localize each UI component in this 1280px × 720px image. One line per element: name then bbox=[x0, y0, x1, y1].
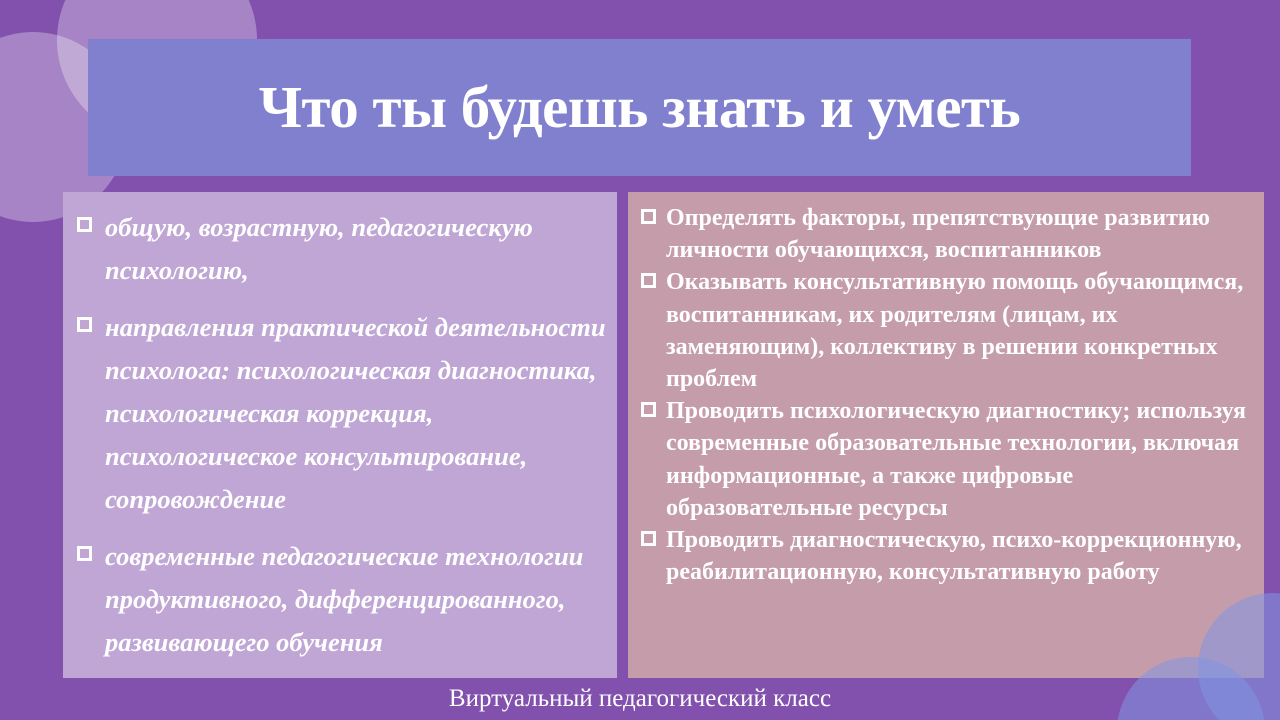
list-item-text: Определять факторы, препятствующие разви… bbox=[666, 205, 1210, 263]
slide-footer: Виртуальный педагогический класс bbox=[0, 678, 1280, 720]
checkbox-bullet-icon bbox=[77, 546, 92, 561]
left-content-panel: общую, возрастную, педагогическую психол… bbox=[63, 192, 617, 678]
slide-canvas: Что ты будешь знать и уметь общую, возра… bbox=[0, 0, 1280, 720]
right-content-panel: Определять факторы, препятствующие разви… bbox=[628, 192, 1264, 678]
list-item-text: общую, возрастную, педагогическую психол… bbox=[105, 212, 533, 285]
left-bullet-list: общую, возрастную, педагогическую психол… bbox=[77, 206, 607, 664]
list-item: направления практической деятельности пс… bbox=[77, 306, 607, 521]
list-item-text: Проводить диагностическую, психо-коррекц… bbox=[666, 527, 1242, 585]
list-item: общую, возрастную, педагогическую психол… bbox=[77, 206, 607, 292]
list-item-text: современные педагогические технологии пр… bbox=[105, 541, 583, 657]
checkbox-bullet-icon bbox=[641, 209, 656, 224]
right-bullet-list: Определять факторы, препятствующие разви… bbox=[638, 202, 1258, 588]
list-item: Проводить диагностическую, психо-коррекц… bbox=[638, 524, 1258, 588]
list-item-text: Проводить психологическую диагностику; и… bbox=[666, 398, 1246, 521]
list-item: Оказывать консультативную помощь обучающ… bbox=[638, 266, 1258, 395]
list-item-text: направления практической деятельности пс… bbox=[105, 312, 606, 514]
page-title: Что ты будешь знать и уметь bbox=[88, 39, 1191, 176]
checkbox-bullet-icon bbox=[77, 317, 92, 332]
list-item: современные педагогические технологии пр… bbox=[77, 535, 607, 664]
list-item-text: Оказывать консультативную помощь обучающ… bbox=[666, 269, 1243, 392]
checkbox-bullet-icon bbox=[641, 402, 656, 417]
list-item: Определять факторы, препятствующие разви… bbox=[638, 202, 1258, 266]
checkbox-bullet-icon bbox=[641, 531, 656, 546]
checkbox-bullet-icon bbox=[77, 217, 92, 232]
list-item: Проводить психологическую диагностику; и… bbox=[638, 395, 1258, 524]
checkbox-bullet-icon bbox=[641, 273, 656, 288]
